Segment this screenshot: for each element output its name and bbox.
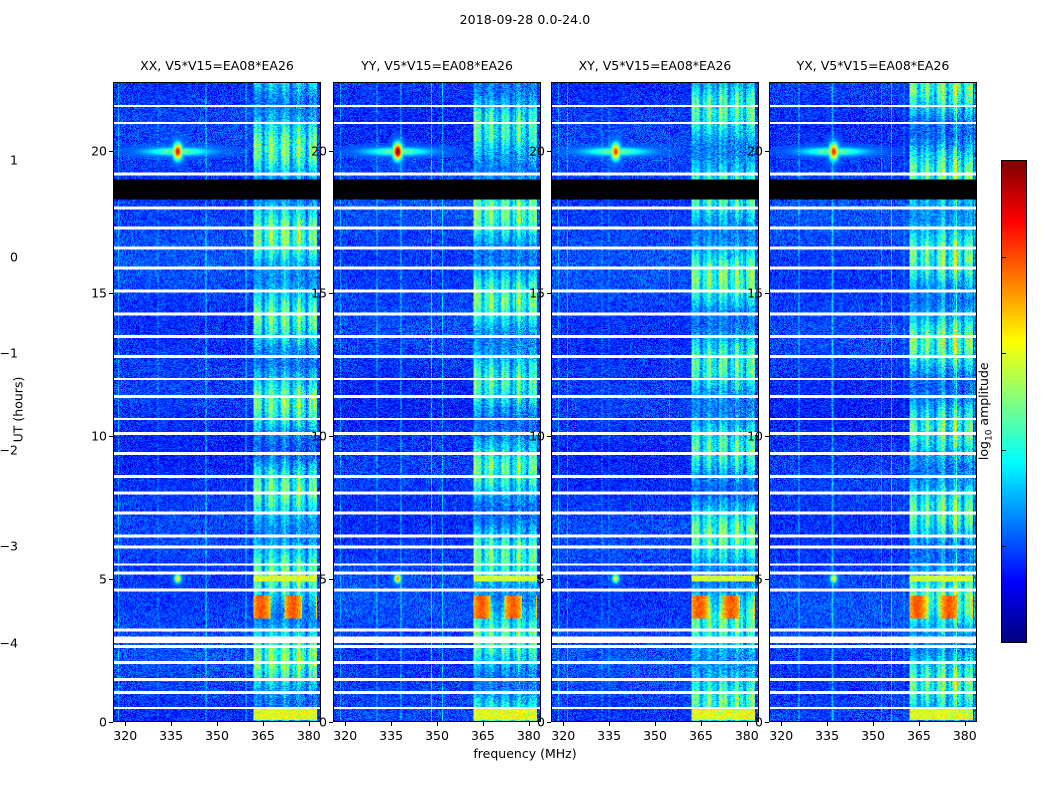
y-tick-mark: [765, 436, 769, 437]
colorbar-tick-mark: [1001, 450, 1006, 451]
y-tick-label: 15: [71, 286, 107, 301]
y-tick-label: 15: [291, 286, 327, 301]
y-tick-label: 15: [727, 286, 763, 301]
x-tick-label: 320: [333, 728, 357, 743]
x-tick-mark: [873, 722, 874, 726]
y-tick-mark: [109, 151, 113, 152]
x-tick-mark: [827, 722, 828, 726]
x-tick-mark: [263, 722, 264, 726]
y-tick-mark: [329, 436, 333, 437]
x-tick-mark: [483, 722, 484, 726]
colorbar-tick-mark: [1001, 546, 1006, 547]
y-tick-mark: [547, 579, 551, 580]
y-tick-mark: [765, 151, 769, 152]
x-tick-mark: [171, 722, 172, 726]
x-tick-mark: [125, 722, 126, 726]
y-tick-mark: [329, 151, 333, 152]
x-tick-label: 350: [643, 728, 667, 743]
colorbar-label: log10 amplitude: [976, 362, 995, 460]
y-tick-mark: [109, 722, 113, 723]
y-tick-label: 20: [727, 143, 763, 158]
y-tick-label: 10: [71, 429, 107, 444]
x-tick-mark: [655, 722, 656, 726]
colorbar-tick-label: 1: [0, 153, 18, 168]
y-tick-mark: [109, 579, 113, 580]
colorbar[interactable]: [1001, 160, 1027, 643]
y-tick-mark: [765, 722, 769, 723]
y-tick-label: 5: [71, 572, 107, 587]
waterfall-panel-xy[interactable]: [551, 82, 759, 722]
y-tick-label: 10: [509, 429, 545, 444]
x-tick-mark: [701, 722, 702, 726]
x-tick-mark: [563, 722, 564, 726]
colorbar-tick-label: −2: [0, 442, 18, 457]
x-axis-label: frequency (MHz): [0, 746, 1050, 761]
colorbar-tick-label: −1: [0, 346, 18, 361]
x-tick-label: 335: [159, 728, 183, 743]
colorbar-tick-label: −3: [0, 539, 18, 554]
panel-title-yy: YY, V5*V15=EA08*EA26: [333, 58, 541, 73]
x-tick-label: 335: [815, 728, 839, 743]
x-tick-label: 350: [425, 728, 449, 743]
x-tick-mark: [919, 722, 920, 726]
y-tick-label: 0: [509, 715, 545, 730]
x-tick-mark: [965, 722, 966, 726]
x-tick-label: 365: [471, 728, 495, 743]
x-tick-mark: [345, 722, 346, 726]
waterfall-panel-yy[interactable]: [333, 82, 541, 722]
panel-title-xy: XY, V5*V15=EA08*EA26: [551, 58, 759, 73]
y-tick-mark: [109, 293, 113, 294]
panel-title-xx: XX, V5*V15=EA08*EA26: [113, 58, 321, 73]
x-tick-label: 380: [517, 728, 541, 743]
y-tick-mark: [329, 722, 333, 723]
y-tick-label: 0: [727, 715, 763, 730]
y-tick-mark: [109, 436, 113, 437]
x-tick-label: 335: [379, 728, 403, 743]
y-tick-label: 15: [509, 286, 545, 301]
x-tick-label: 380: [953, 728, 977, 743]
y-tick-label: 10: [291, 429, 327, 444]
x-tick-mark: [781, 722, 782, 726]
x-tick-label: 350: [861, 728, 885, 743]
y-axis-label: UT (hours): [11, 377, 26, 443]
y-tick-label: 20: [71, 143, 107, 158]
x-tick-label: 365: [251, 728, 275, 743]
y-tick-label: 5: [509, 572, 545, 587]
y-tick-mark: [547, 293, 551, 294]
y-tick-mark: [547, 436, 551, 437]
x-tick-mark: [217, 722, 218, 726]
figure-suptitle: 2018-09-28 0.0-24.0: [0, 12, 1050, 27]
x-tick-label: 350: [205, 728, 229, 743]
y-tick-mark: [765, 579, 769, 580]
y-tick-label: 10: [727, 429, 763, 444]
y-tick-mark: [547, 722, 551, 723]
x-tick-mark: [437, 722, 438, 726]
waterfall-panel-xx[interactable]: [113, 82, 321, 722]
x-tick-label: 320: [113, 728, 137, 743]
y-tick-mark: [547, 151, 551, 152]
y-tick-label: 0: [71, 715, 107, 730]
figure-canvas: 2018-09-28 0.0-24.0 XX, V5*V15=EA08*EA26…: [0, 0, 1050, 800]
x-tick-label: 380: [735, 728, 759, 743]
waterfall-panel-yx[interactable]: [769, 82, 977, 722]
colorbar-tick-mark: [1001, 353, 1006, 354]
x-tick-label: 320: [551, 728, 575, 743]
y-tick-mark: [765, 293, 769, 294]
y-tick-label: 5: [727, 572, 763, 587]
y-tick-label: 20: [509, 143, 545, 158]
x-tick-label: 335: [597, 728, 621, 743]
y-tick-mark: [329, 579, 333, 580]
y-tick-label: 0: [291, 715, 327, 730]
x-tick-label: 380: [297, 728, 321, 743]
y-tick-mark: [329, 293, 333, 294]
x-tick-mark: [609, 722, 610, 726]
x-tick-mark: [391, 722, 392, 726]
x-tick-label: 365: [689, 728, 713, 743]
panel-title-yx: YX, V5*V15=EA08*EA26: [769, 58, 977, 73]
y-tick-label: 5: [291, 572, 327, 587]
x-tick-label: 365: [907, 728, 931, 743]
colorbar-tick-label: 0: [0, 249, 18, 264]
colorbar-tick-mark: [1001, 257, 1006, 258]
colorbar-tick-label: −4: [0, 636, 18, 651]
y-tick-label: 20: [291, 143, 327, 158]
x-tick-label: 320: [769, 728, 793, 743]
